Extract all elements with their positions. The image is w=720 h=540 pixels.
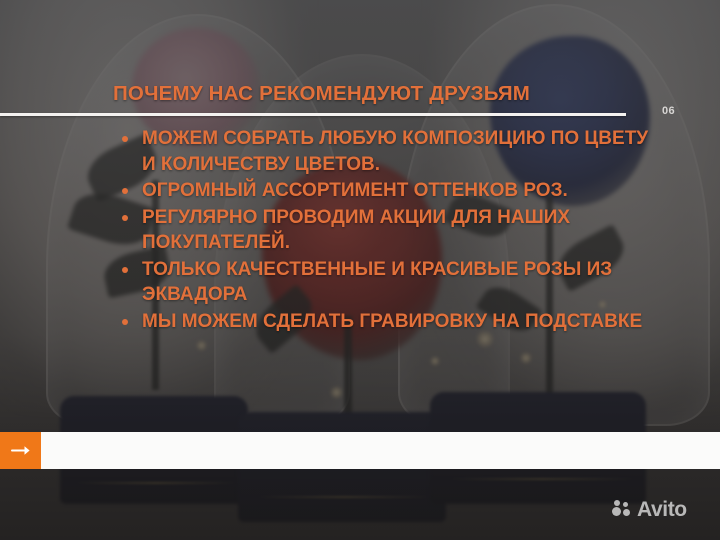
bottom-bar [0, 432, 720, 469]
list-item: МОЖЕМ СОБРАТЬ ЛЮБУЮ КОМПОЗИЦИЮ ПО ЦВЕТУ … [113, 126, 653, 177]
list-item: МЫ МОЖЕМ СДЕЛАТЬ ГРАВИРОВКУ НА ПОДСТАВКЕ [113, 309, 653, 335]
page-number: 06 [662, 105, 675, 117]
list-item: ОГРОМНЫЙ АССОРТИМЕНТ ОТТЕНКОВ РОЗ. [113, 178, 653, 204]
avito-dots-icon [612, 500, 633, 519]
slide-canvas: ПОЧЕМУ НАС РЕКОМЕНДУЮТ ДРУЗЬЯМ 06 МОЖЕМ … [0, 0, 720, 540]
bullet-list: МОЖЕМ СОБРАТЬ ЛЮБУЮ КОМПОЗИЦИЮ ПО ЦВЕТУ … [113, 126, 653, 335]
next-slide-button[interactable] [0, 432, 41, 469]
page-title: ПОЧЕМУ НАС РЕКОМЕНДУЮТ ДРУЗЬЯМ [113, 82, 530, 106]
avito-watermark: Avito [612, 500, 687, 519]
list-item: ТОЛЬКО КАЧЕСТВЕННЫЕ И КРАСИВЫЕ РОЗЫ ИЗ Э… [113, 257, 653, 308]
avito-wordmark: Avito [637, 500, 687, 519]
arrow-right-icon [11, 445, 31, 456]
list-item: РЕГУЛЯРНО ПРОВОДИМ АКЦИИ ДЛЯ НАШИХ ПОКУП… [113, 205, 653, 256]
title-divider [0, 113, 626, 116]
